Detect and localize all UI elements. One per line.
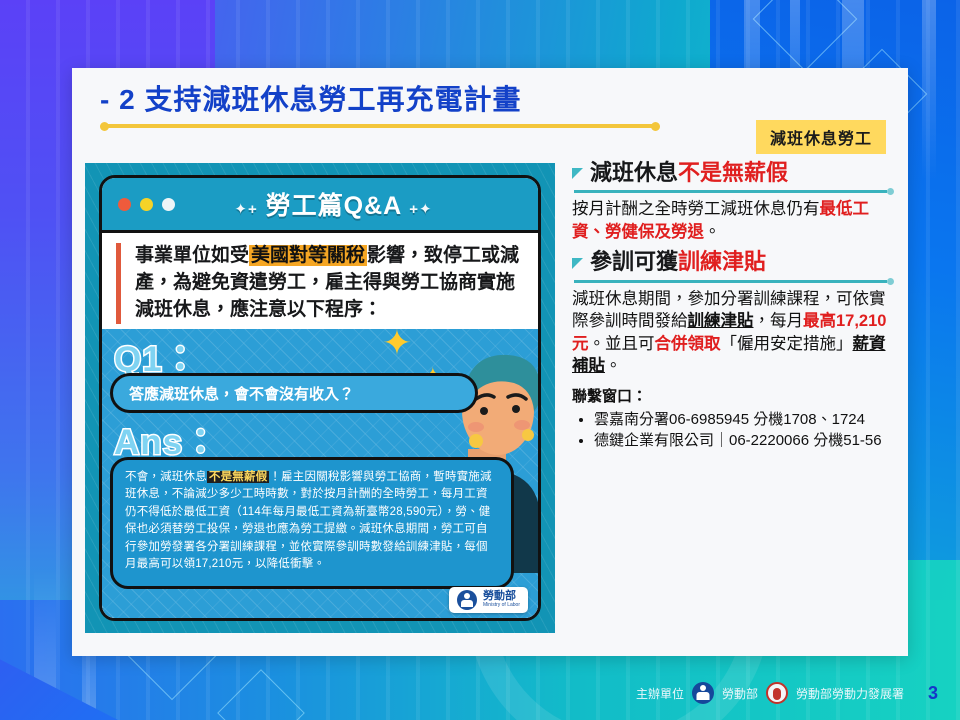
section-heading: 參訓可獲訓練津貼	[572, 249, 894, 275]
slide-card: - 2 支持減班休息勞工再充電計畫 減班休息勞工 ✦+	[72, 68, 908, 656]
section-title-red: 訓練津貼	[678, 249, 766, 274]
footer-org-2: 勞動部勞動力發展署	[796, 685, 904, 702]
sparkle-icon: ✦	[382, 329, 412, 361]
section-underline-dot	[887, 278, 894, 285]
contact-list: 雲嘉南分署06-6985945 分機1708、1724 德鍵企業有限公司｜06-…	[572, 410, 894, 451]
contact-block: 聯繫窗口： 雲嘉南分署06-6985945 分機1708、1724 德鍵企業有限…	[572, 387, 894, 450]
answer-part-2: ！雇主因關稅影響與勞工協商，暫時實施減班休息，不論減少多少工時時數，對於按月計酬…	[125, 471, 492, 570]
maximize-dot-icon	[162, 198, 175, 211]
page-title: - 2 支持減班休息勞工再充電計畫	[100, 82, 740, 117]
footer-org-1: 勞動部	[722, 685, 758, 702]
section-title: 減班休息不是無薪假	[590, 160, 788, 186]
title-underline-line	[106, 124, 654, 128]
footer-organizer-label: 主辦單位	[636, 685, 684, 702]
minimize-dot-icon	[140, 198, 153, 211]
ministry-logo-subtitle: Ministry of Labor	[483, 603, 520, 609]
qa-lead-paragraph: 事業單位如受美國對等關稅影響，致停工或減產，為避免資遣勞工，雇主得與勞工協商實施…	[116, 243, 528, 324]
close-dot-icon	[118, 198, 131, 211]
slide-footer: 主辦單位 勞動部 勞動部勞動力發展署 3	[0, 676, 960, 710]
ministry-logo-icon	[457, 590, 477, 610]
section-body-part-2: 。	[704, 223, 721, 241]
answer-highlight: 不是無薪假	[207, 471, 270, 483]
window-control-dots	[118, 198, 175, 211]
triangle-marker-icon	[572, 258, 583, 269]
qa-lead-highlight: 美國對等關稅	[249, 245, 367, 266]
background-bar	[922, 0, 936, 180]
section-underline-dot	[887, 188, 894, 195]
section-no-unpaid-leave: 減班休息不是無薪假 按月計酬之全時勞工減班休息仍有最低工資、勞健保及勞退。	[572, 160, 894, 243]
section-heading: 減班休息不是無薪假	[572, 160, 894, 186]
sparkle-icon: ✦+	[234, 201, 257, 218]
section-body-part-4: 「僱用安定措施」	[721, 335, 853, 353]
qa-window-titlebar: ✦+ 勞工篇Q&A +✦	[102, 178, 538, 233]
ministry-logo-text: 勞動部 Ministry of Labor	[483, 591, 520, 608]
right-content-column: 減班休息不是無薪假 按月計酬之全時勞工減班休息仍有最低工資、勞健保及勞退。 參訓…	[572, 160, 894, 452]
question-bubble: 答應減班休息，會不會沒有收入？	[110, 373, 478, 413]
wda-logo-icon	[766, 682, 788, 704]
sparkle-icon: +✦	[409, 201, 432, 218]
ministry-of-labor-logo: 勞動部 Ministry of Labor	[449, 587, 528, 613]
qa-header-title-text: 勞工篇Q&A	[266, 192, 402, 220]
section-title-plain: 減班休息	[590, 160, 678, 185]
contact-title: 聯繫窗口：	[572, 387, 894, 407]
answer-part-1: 不會，減班休息	[125, 471, 207, 483]
section-underline	[574, 278, 894, 284]
qa-window: ✦+ 勞工篇Q&A +✦ 事業單位如受美國對等關稅影響，致停工或減產，為避免資遣…	[99, 175, 541, 621]
answer-bubble: 不會，減班休息不是無薪假！雇主因關稅影響與勞工協商，暫時實施減班休息，不論減少多…	[110, 457, 514, 589]
section-title-plain: 參訓可獲	[590, 249, 678, 274]
slide-stage: - 2 支持減班休息勞工再充電計畫 減班休息勞工 ✦+	[0, 0, 960, 720]
section-body-underline-1: 訓練津貼	[688, 312, 754, 330]
section-underline-line	[574, 190, 887, 193]
section-body-part-2: ，每月	[754, 312, 804, 330]
section-body-part-3: 。並且可	[589, 335, 655, 353]
qa-header-title: ✦+ 勞工篇Q&A +✦	[175, 186, 538, 222]
title-underline-dot-right	[651, 122, 660, 131]
page-number: 3	[928, 683, 938, 704]
section-body: 減班休息期間，參加分署訓練課程，可依實際參訓時間發給訓練津貼，每月最高17,21…	[572, 288, 894, 378]
section-training-allowance: 參訓可獲訓練津貼 減班休息期間，參加分署訓練課程，可依實際參訓時間發給訓練津貼，…	[572, 249, 894, 377]
title-underline	[100, 122, 660, 129]
section-body-red-2: 合併領取	[655, 335, 721, 353]
qa-question-answer-panel: ✦ ✦ ✦	[102, 329, 538, 621]
list-item: 德鍵企業有限公司｜06-2220066 分機51-56	[594, 431, 894, 451]
list-item: 雲嘉南分署06-6985945 分機1708、1724	[594, 410, 894, 430]
qa-lead-part-1: 事業單位如受	[135, 245, 249, 266]
ministry-logo-icon	[692, 682, 714, 704]
title-block: - 2 支持減班休息勞工再充電計畫	[100, 82, 740, 129]
section-title: 參訓可獲訓練津貼	[590, 249, 766, 275]
section-body: 按月計酬之全時勞工減班休息仍有最低工資、勞健保及勞退。	[572, 198, 894, 243]
qa-window-body: 事業單位如受美國對等關稅影響，致停工或減產，為避免資遣勞工，雇主得與勞工協商實施…	[102, 233, 538, 621]
section-body-part-5: 。	[605, 357, 622, 375]
section-underline-line	[574, 280, 887, 283]
status-badge: 減班休息勞工	[756, 120, 886, 154]
qa-graphic-card: ✦+ 勞工篇Q&A +✦ 事業單位如受美國對等關稅影響，致停工或減產，為避免資遣…	[85, 163, 555, 633]
section-body-part-1: 按月計酬之全時勞工減班休息仍有	[572, 200, 820, 218]
section-underline	[574, 188, 894, 194]
triangle-marker-icon	[572, 168, 583, 179]
section-title-red: 不是無薪假	[678, 160, 788, 185]
